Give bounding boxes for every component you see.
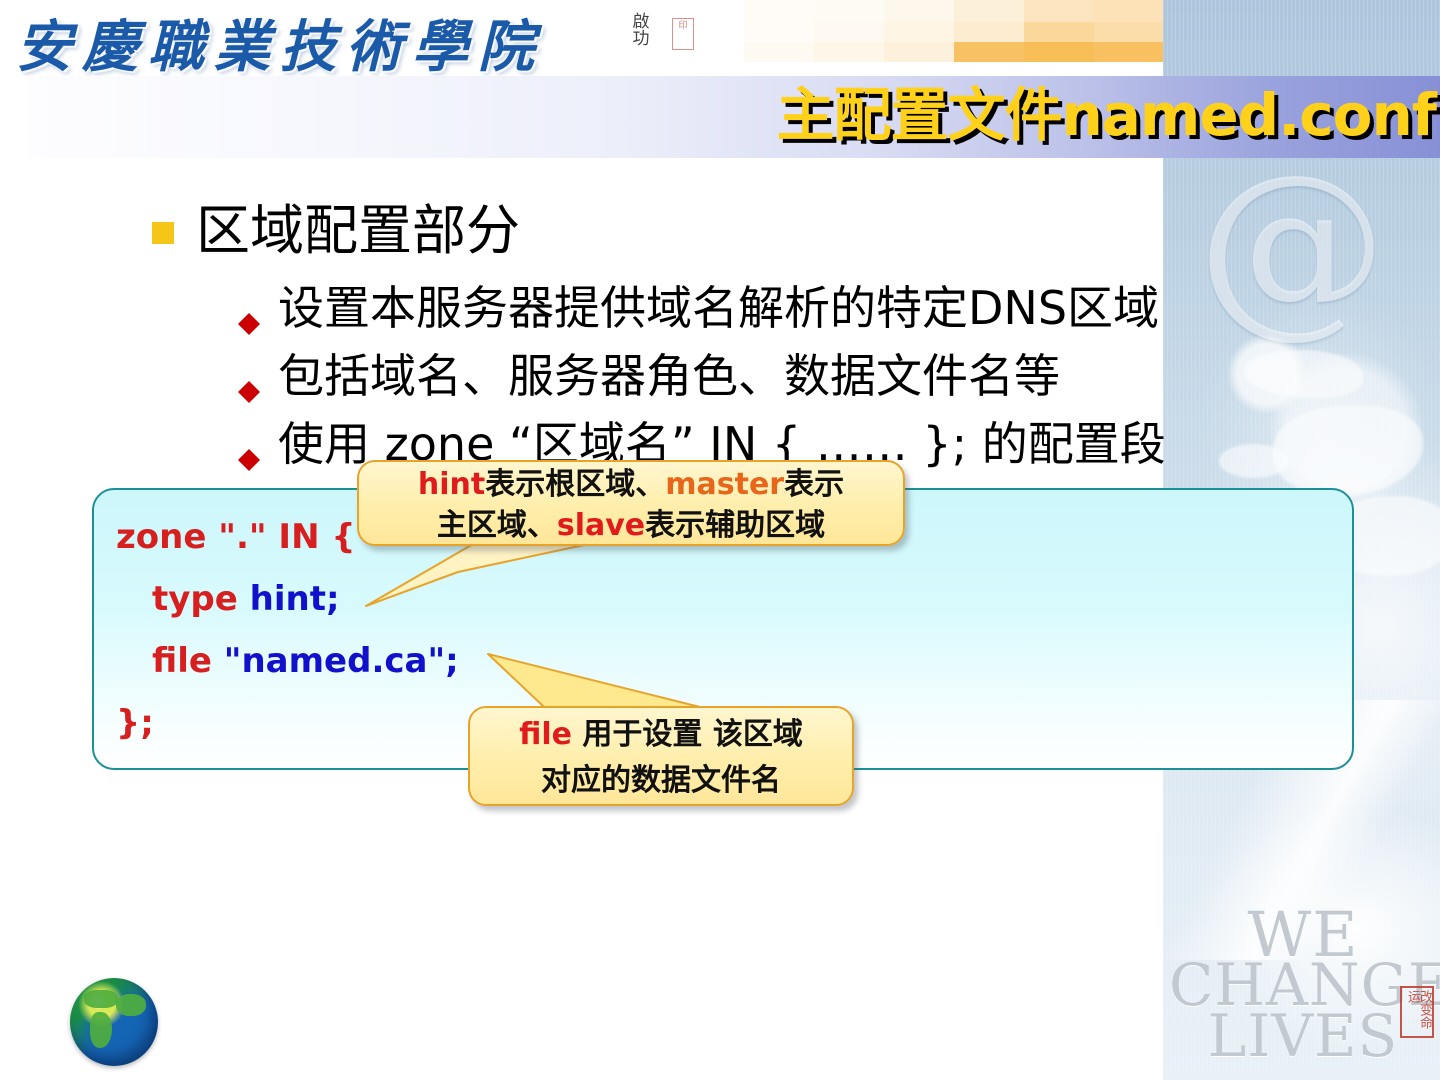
outline-level2-label-1: 设置本服务器提供域名解析的特定DNS区域 xyxy=(278,280,1159,336)
callout-1-tail xyxy=(360,538,600,616)
callout-2-line-1: file 用于设置 该区域 xyxy=(470,708,852,758)
callout-file-explanation: file 用于设置 该区域 对应的数据文件名 xyxy=(468,706,854,806)
callout-1-keyword-slave: slave xyxy=(557,508,645,543)
code-line-1-keyword: zone "." IN { xyxy=(116,517,356,557)
diamond-bullet-icon xyxy=(238,302,260,324)
callout-2-line1-rest: 用于设置 该区域 xyxy=(572,717,803,752)
diamond-bullet-icon xyxy=(238,370,260,392)
slide-header: 安慶職業技術學院 啟功 印 xyxy=(0,0,1163,76)
signature-seal-icon: 印 xyxy=(672,18,694,50)
red-seal-stamp: 改变命运 xyxy=(1400,986,1434,1038)
diamond-bullet-icon xyxy=(238,438,260,460)
code-line-2-keyword: type xyxy=(152,579,250,619)
globe-icon xyxy=(70,978,158,1066)
callout-1-text-end: 表示 xyxy=(784,467,844,502)
institution-logo: 安慶職業技術學院 xyxy=(16,2,544,76)
callout-1-line-2: 主区域、slave表示辅助区域 xyxy=(359,505,903,546)
outline-level1-item: 区域配置部分 xyxy=(152,200,520,262)
outline-level2-label-2: 包括域名、服务器角色、数据文件名等 xyxy=(278,348,1060,404)
header-block-pattern xyxy=(744,0,1163,62)
tagline-line-3: LIVES xyxy=(1169,1010,1437,1063)
calligraphy-signature: 啟功 xyxy=(626,14,656,48)
callout-2-line-2: 对应的数据文件名 xyxy=(470,758,852,804)
callout-1-keyword-hint: hint xyxy=(418,467,485,502)
outline-level2-item-2: 包括域名、服务器角色、数据文件名等 xyxy=(238,348,1060,404)
tagline-we-change-lives: WE CHANGE LIVES xyxy=(1169,906,1437,1064)
callout-1-keyword-master: master xyxy=(665,467,784,502)
code-line-1: zone "." IN { xyxy=(116,520,356,554)
code-line-4-keyword: }; xyxy=(116,703,154,743)
code-line-4: }; xyxy=(116,706,154,740)
code-line-3-keyword: file xyxy=(152,641,224,681)
code-line-3-value: "named.ca"; xyxy=(224,641,459,681)
code-line-3: file "named.ca"; xyxy=(152,644,459,678)
code-line-2-value: hint; xyxy=(250,579,340,619)
callout-1-line-1: hint表示根区域、master表示 xyxy=(359,462,903,505)
callout-1-line2-start: 主区域、 xyxy=(437,508,557,543)
slide-title: 主配置文件named.conf xyxy=(776,74,1436,156)
outline-level2-item-1: 设置本服务器提供域名解析的特定DNS区域 xyxy=(238,280,1159,336)
callout-2-keyword-file: file xyxy=(519,717,572,752)
callout-1-line2-end: 表示辅助区域 xyxy=(645,508,825,543)
outline-level1-label: 区域配置部分 xyxy=(196,200,520,262)
square-bullet-icon xyxy=(152,222,174,244)
callout-1-text-mid: 表示根区域、 xyxy=(485,467,665,502)
callout-type-explanation: hint表示根区域、master表示 主区域、slave表示辅助区域 xyxy=(357,460,905,546)
slide-title-bar: 主配置文件named.conf xyxy=(28,76,1440,158)
code-line-2: type hint; xyxy=(152,582,340,616)
